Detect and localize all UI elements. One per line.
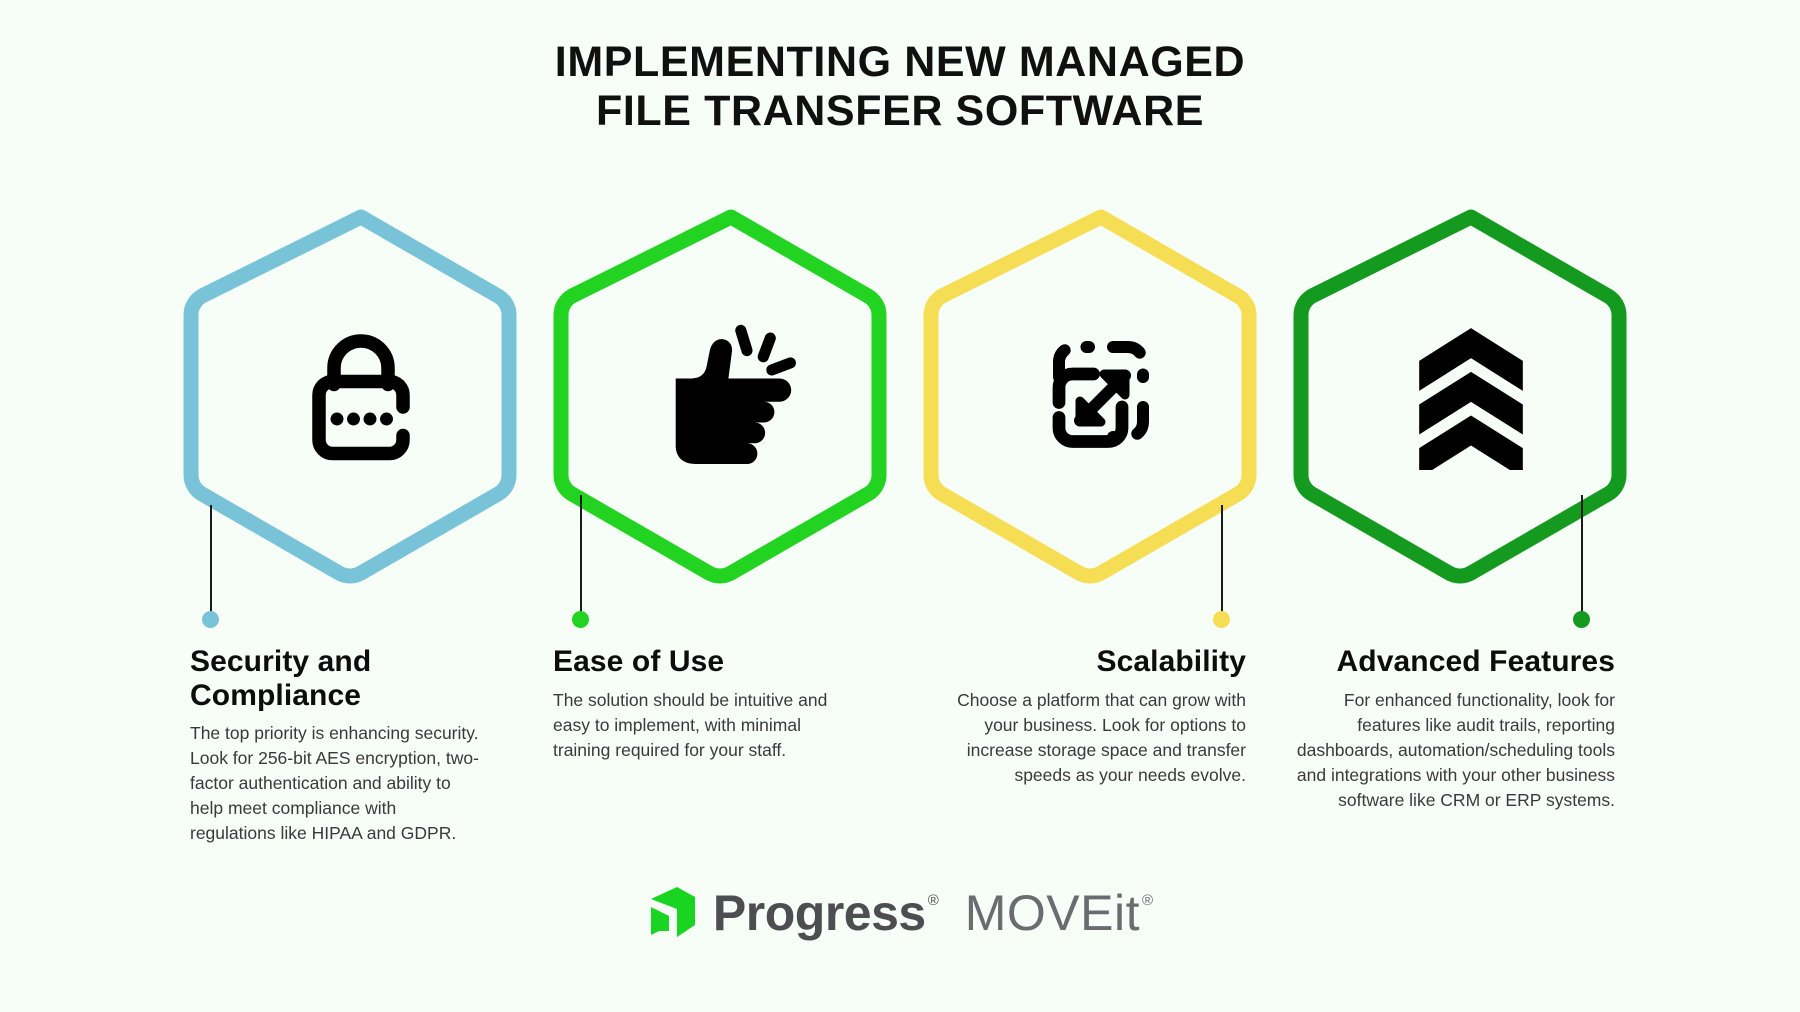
hexagon-card-security-and-compliance[interactable] [181,195,541,595]
progress-mark-icon [647,885,699,941]
expand-scale-icon [921,195,1281,595]
hexagon-icon-row [0,195,1800,605]
connector-dot-scalability [1213,611,1230,628]
column-scalability: Scalability Choose a platform that can g… [946,645,1246,788]
column-body-security-and-compliance: The top priority is enhancing security. … [190,721,485,846]
connector-dot-ease-of-use [572,611,589,628]
moveit-logo[interactable]: MOVEit ® [965,888,1153,938]
padlock-icon [181,195,541,595]
connector-line-scalability [1221,505,1223,615]
column-body-ease-of-use: The solution should be intuitive and eas… [553,688,843,763]
connector-line-advanced-features [1581,495,1583,615]
column-ease-of-use: Ease of Use The solution should be intui… [553,645,843,763]
column-heading-security-and-compliance: Security and Compliance [190,645,485,712]
moveit-wordmark: MOVEit [965,888,1140,938]
column-heading-ease-of-use: Ease of Use [553,645,843,679]
hexagon-card-scalability[interactable] [921,195,1281,595]
progress-trademark-symbol: ® [928,892,939,909]
infographic-canvas: IMPLEMENTING NEW MANAGED FILE TRANSFER S… [0,0,1800,1012]
progress-logo[interactable]: Progress ® [647,885,939,941]
connector-line-security [210,505,212,615]
column-body-advanced-features: For enhanced functionality, look for fea… [1295,688,1615,813]
hexagon-card-advanced-features[interactable] [1291,195,1651,595]
title-line-1: IMPLEMENTING NEW MANAGED [0,38,1800,87]
progress-wordmark: Progress [713,888,926,938]
column-body-scalability: Choose a platform that can grow with you… [946,688,1246,788]
column-security-and-compliance: Security and Compliance The top priority… [190,645,485,846]
title-line-2: FILE TRANSFER SOFTWARE [0,87,1800,136]
triple-chevron-up-icon [1291,195,1651,595]
column-advanced-features: Advanced Features For enhanced functiona… [1295,645,1615,813]
connector-line-ease-of-use [580,495,582,615]
connector-dot-security [202,611,219,628]
connector-dot-advanced-features [1573,611,1590,628]
column-heading-scalability: Scalability [946,645,1246,679]
moveit-trademark-symbol: ® [1142,892,1153,909]
column-heading-advanced-features: Advanced Features [1295,645,1615,679]
footer-logos: Progress ® MOVEit ® [0,885,1800,941]
hexagon-card-ease-of-use[interactable] [551,195,911,595]
page-title: IMPLEMENTING NEW MANAGED FILE TRANSFER S… [0,38,1800,137]
pointing-hand-click-icon [551,195,911,595]
